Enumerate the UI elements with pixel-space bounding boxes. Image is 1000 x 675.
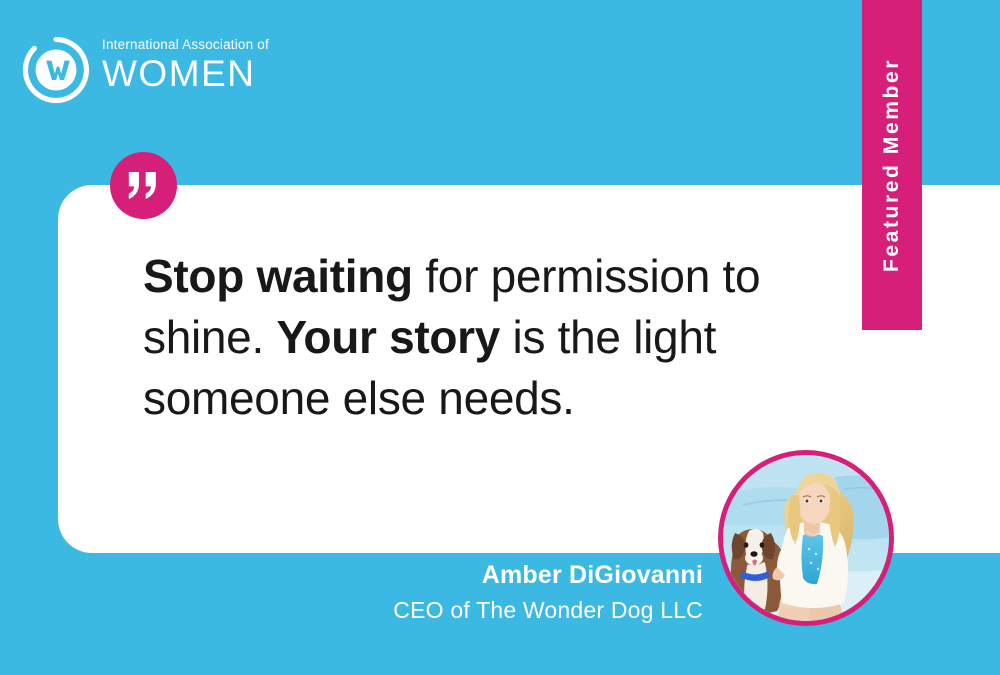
member-photo-ring bbox=[718, 450, 894, 626]
member-portrait-photo bbox=[723, 455, 889, 621]
quote-line-1-rest: for permission bbox=[413, 250, 710, 302]
logo-tagline: International Association of bbox=[102, 38, 274, 53]
quotation-mark-icon bbox=[110, 152, 177, 219]
logo-wordmark: International Association of WOMEN bbox=[102, 38, 274, 93]
quote-line-1-emphasis: Stop waiting bbox=[143, 250, 413, 302]
logo-name: WOMEN bbox=[102, 55, 274, 93]
w-circle-logo-icon bbox=[22, 36, 90, 104]
featured-member-quote-card: International Association of WOMEN Featu… bbox=[0, 0, 1000, 675]
quote-line-2-emphasis: Your story bbox=[276, 311, 500, 363]
author-name: Amber DiGiovanni bbox=[160, 560, 703, 591]
featured-member-badge-label: Featured Member bbox=[880, 58, 904, 272]
attribution-block: Amber DiGiovanni CEO of The Wonder Dog L… bbox=[160, 560, 703, 626]
quote-line-1: Stop waiting for permission bbox=[143, 250, 710, 302]
featured-member-badge: Featured Member bbox=[862, 0, 922, 330]
author-role: CEO of The Wonder Dog LLC bbox=[160, 595, 703, 626]
quote-text: Stop waiting for permission to shine. Yo… bbox=[143, 246, 783, 429]
quote-line-2-rest: is the bbox=[500, 311, 621, 363]
iaw-logo: International Association of WOMEN bbox=[22, 36, 272, 108]
